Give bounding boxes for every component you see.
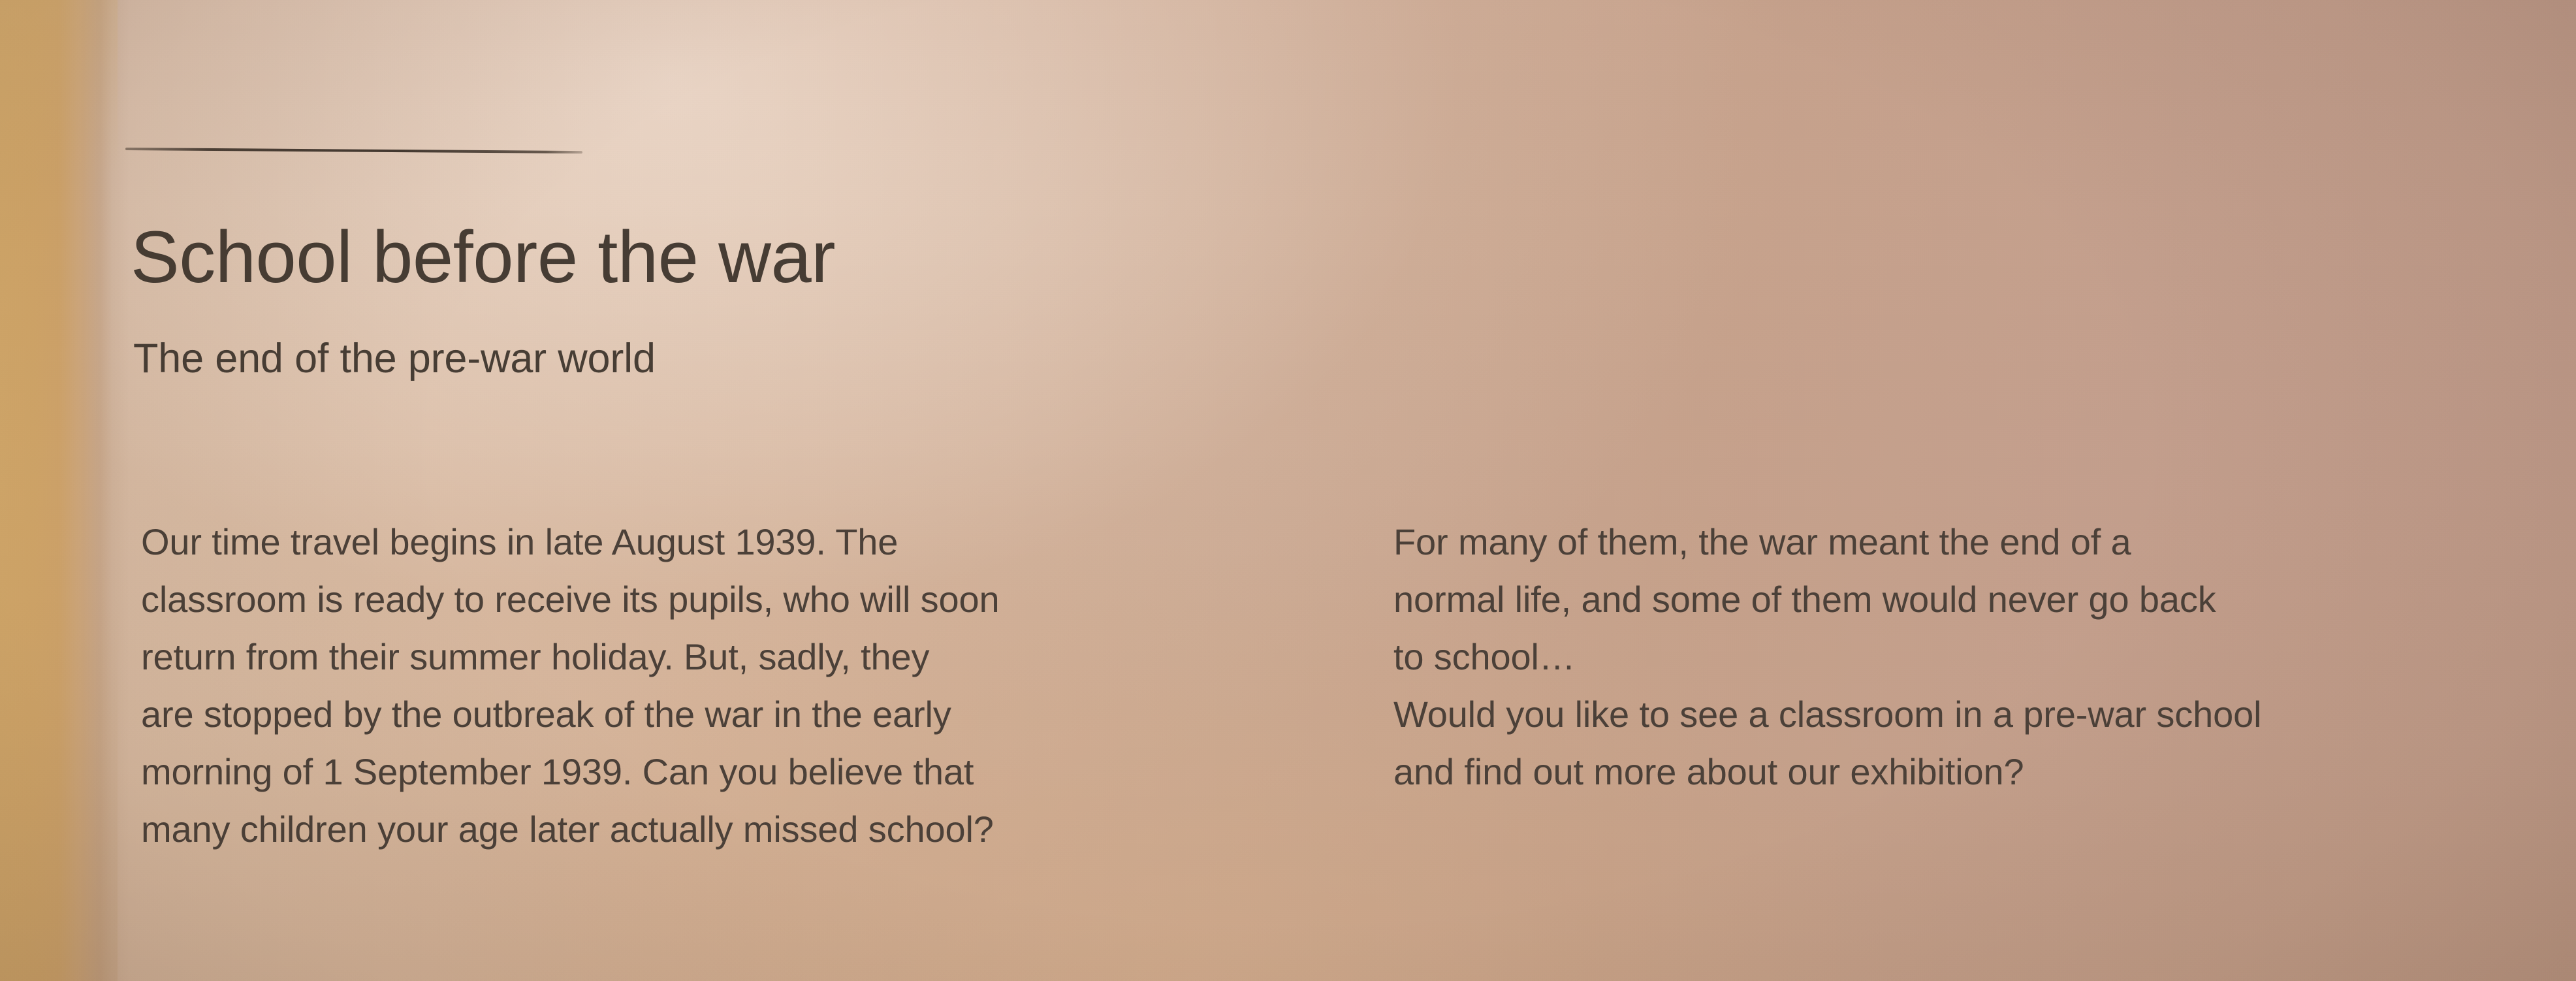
text-line: to school…: [1393, 628, 2261, 686]
text-line: Our time travel begins in late August 19…: [141, 513, 1000, 571]
panel-content: School before the war The end of the pre…: [0, 0, 2576, 981]
body-column-right: For many of them, the war meant the end …: [1393, 513, 2261, 801]
title-horizontal-rule: [125, 148, 582, 153]
text-line: and find out more about our exhibition?: [1393, 743, 2261, 801]
text-line: are stopped by the outbreak of the war i…: [141, 686, 1000, 743]
paragraph-left: Our time travel begins in late August 19…: [141, 513, 1000, 858]
exhibit-panel-photo: School before the war The end of the pre…: [0, 0, 2576, 981]
body-column-left: Our time travel begins in late August 19…: [141, 513, 1000, 858]
text-line: morning of 1 September 1939. Can you bel…: [141, 743, 1000, 801]
text-line: classroom is ready to receive its pupils…: [141, 571, 1000, 628]
page-subtitle: The end of the pre-war world: [133, 338, 656, 379]
text-line: normal life, and some of them would neve…: [1393, 571, 2261, 628]
page-title: School before the war: [131, 221, 835, 294]
text-line: Would you like to see a classroom in a p…: [1393, 686, 2261, 743]
paragraph-right: For many of them, the war meant the end …: [1393, 513, 2261, 801]
text-line: many children your age later actually mi…: [141, 801, 1000, 858]
text-line: return from their summer holiday. But, s…: [141, 628, 1000, 686]
text-line: For many of them, the war meant the end …: [1393, 513, 2261, 571]
